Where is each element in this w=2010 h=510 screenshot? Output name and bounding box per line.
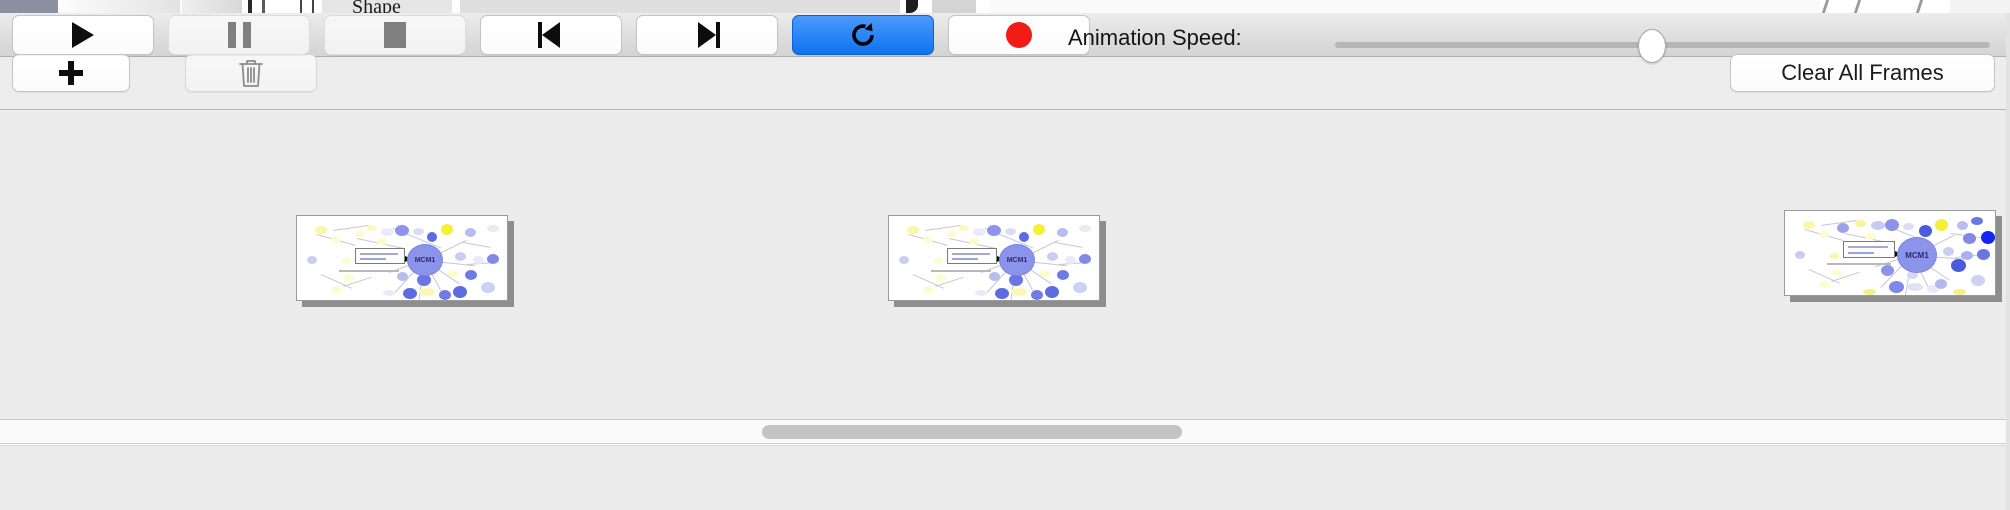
bg-chunk: [262, 0, 265, 13]
bg-chunk: [300, 0, 302, 13]
network-render: MCM1: [1785, 211, 1995, 295]
delete-frame-button[interactable]: [185, 54, 317, 92]
bg-chunk: [248, 0, 252, 13]
next-frame-button[interactable]: [636, 15, 778, 55]
skip-previous-icon: [538, 22, 564, 48]
scrollbar-thumb[interactable]: [762, 425, 1182, 439]
bg-chunk: [460, 0, 900, 13]
frame-image: MCM1: [888, 215, 1100, 301]
bg-chunk: [932, 0, 976, 13]
pause-icon: [228, 22, 251, 48]
bg-chunk: [990, 0, 1820, 13]
play-icon: [72, 22, 94, 48]
network-render: MCM1: [297, 216, 507, 300]
network-render: MCM1: [889, 216, 1099, 300]
clear-all-frames-button[interactable]: Clear All Frames: [1730, 54, 1995, 92]
hub-node-label: MCM1: [999, 244, 1035, 276]
frame-image: MCM1: [296, 215, 508, 301]
bg-chunk: [0, 0, 58, 13]
record-icon: [1006, 22, 1032, 48]
bg-chunk: [182, 0, 242, 13]
loop-button[interactable]: [792, 15, 934, 55]
bg-chunk: [1854, 0, 1861, 13]
bg-chunk: [1950, 0, 2010, 13]
stop-icon: [384, 22, 406, 48]
bg-chunk: [312, 0, 314, 13]
window-right-edge: [2006, 13, 2010, 510]
timeline-scrollbar[interactable]: [0, 420, 2010, 444]
pause-button[interactable]: [168, 15, 310, 55]
cyanimator-window: Shape CyAnimator Clear All Frames: [0, 0, 2010, 510]
loop-refresh-icon: [848, 20, 878, 50]
animation-speed-label: Animation Speed:: [1068, 25, 1242, 51]
frame-thumbnail[interactable]: MCM1: [1784, 210, 2002, 302]
skip-next-icon: [694, 22, 720, 48]
bg-chunk: [58, 0, 180, 13]
background-window-strip: Shape: [0, 0, 2010, 13]
previous-frame-button[interactable]: [480, 15, 622, 55]
bg-chunk: [1822, 0, 1829, 13]
bg-chunk: [906, 0, 918, 13]
frame-thumbnail[interactable]: MCM1: [888, 215, 1106, 307]
timeline-panel[interactable]: MCM1: [0, 110, 2010, 420]
stop-button[interactable]: [324, 15, 466, 55]
play-button[interactable]: [12, 15, 154, 55]
frame-image: MCM1: [1784, 210, 1996, 296]
animation-speed-slider-thumb[interactable]: [1638, 29, 1666, 63]
background-window-text: Shape: [352, 0, 401, 13]
add-frame-button[interactable]: [12, 54, 130, 92]
trash-icon: [238, 58, 264, 88]
playback-toolbar: [0, 445, 2010, 510]
hub-node-label: MCM1: [407, 244, 443, 276]
plus-icon: [59, 61, 83, 85]
bg-chunk: [1916, 0, 1923, 13]
hub-node-label: MCM1: [1897, 237, 1937, 273]
frame-thumbnail[interactable]: MCM1: [296, 215, 514, 307]
